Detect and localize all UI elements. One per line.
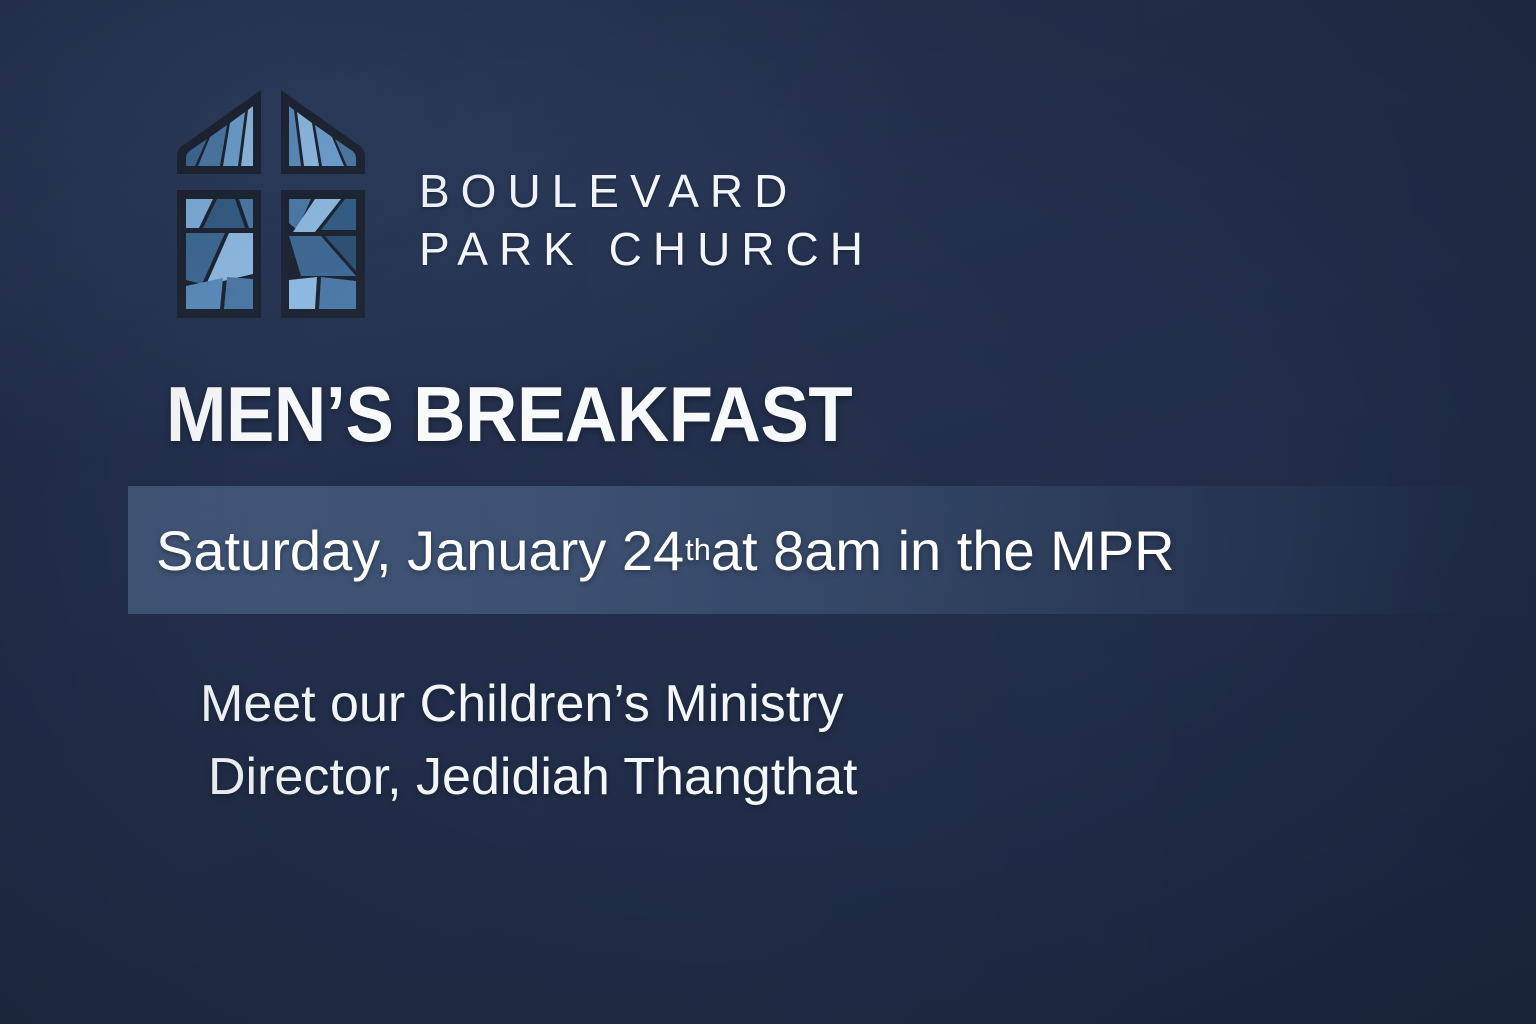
stained-glass-window-cross-logo [165, 78, 377, 328]
event-title: MEN’S BREAKFAST [166, 375, 852, 453]
church-logo-block: BOULEVARD PARK CHURCH [165, 78, 874, 328]
event-time-location: at 8am in the MPR [711, 518, 1175, 583]
event-description: Meet our Children’s Ministry Director, J… [200, 668, 857, 814]
wordmark-line-2: PARK CHURCH [419, 226, 874, 272]
wordmark: BOULEVARD PARK CHURCH [419, 134, 874, 272]
description-line-2: Director, Jedidiah Thangthat [200, 741, 857, 814]
event-date-prefix: Saturday, January 24 [156, 518, 684, 583]
wordmark-line-1: BOULEVARD [419, 168, 874, 214]
description-line-1: Meet our Children’s Ministry [200, 668, 857, 741]
announcement-slide: BOULEVARD PARK CHURCH MEN’S BREAKFAST Sa… [0, 0, 1536, 1024]
event-datetime-location: Saturday, January 24th at 8am in the MPR [156, 486, 1175, 614]
